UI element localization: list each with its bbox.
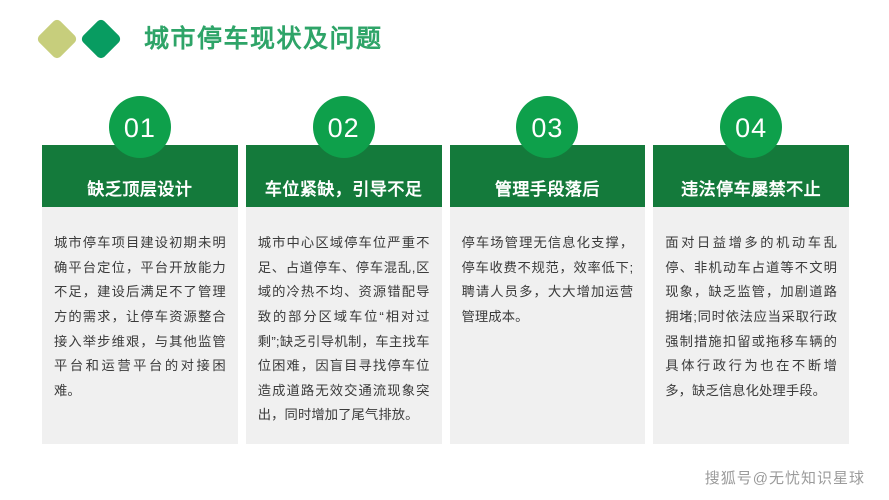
card-body-text: 城市中心区域停车位严重不足、占道停车、停车混乱,区域的冷热不均、资源错配导致的部… bbox=[258, 231, 430, 428]
card-body-panel: 城市停车项目建设初期未明确平台定位，平台开放能力不足，建设后满足不了管理方的需求… bbox=[42, 207, 238, 444]
card-title: 违法停车屡禁不止 bbox=[681, 181, 821, 207]
card-number-label: 04 bbox=[735, 113, 767, 142]
footer-watermark: 搜狐号@无忧知识星球 bbox=[705, 467, 865, 488]
problem-card-03: 03 管理手段落后 停车场管理无信息化支撑，停车收费不规范，效率低下;聘请人员多… bbox=[450, 96, 646, 444]
card-body-panel: 城市中心区域停车位严重不足、占道停车、停车混乱,区域的冷热不均、资源错配导致的部… bbox=[246, 207, 442, 444]
card-number-label: 02 bbox=[328, 113, 360, 142]
problem-card-01: 01 缺乏顶层设计 城市停车项目建设初期未明确平台定位，平台开放能力不足，建设后… bbox=[42, 96, 238, 444]
diamond-teal-icon bbox=[80, 18, 122, 60]
card-title: 车位紧缺，引导不足 bbox=[265, 181, 423, 207]
card-number-badge: 04 bbox=[720, 96, 782, 158]
card-number-badge: 02 bbox=[313, 96, 375, 158]
card-number-label: 01 bbox=[124, 113, 156, 142]
problem-card-02: 02 车位紧缺，引导不足 城市中心区域停车位严重不足、占道停车、停车混乱,区域的… bbox=[246, 96, 442, 444]
card-number-label: 03 bbox=[531, 113, 563, 142]
card-body-panel: 面对日益增多的机动车乱停、非机动车占道等不文明现象，缺乏监管，加剧道路拥堵;同时… bbox=[653, 207, 849, 444]
slide-header: 城市停车现状及问题 bbox=[0, 0, 889, 78]
card-body-panel: 停车场管理无信息化支撑，停车收费不规范，效率低下;聘请人员多，大大增加运营管理成… bbox=[450, 207, 646, 444]
page-title: 城市停车现状及问题 bbox=[144, 27, 383, 52]
card-body-text: 城市停车项目建设初期未明确平台定位，平台开放能力不足，建设后满足不了管理方的需求… bbox=[54, 231, 226, 403]
card-body-text: 面对日益增多的机动车乱停、非机动车占道等不文明现象，缺乏监管，加剧道路拥堵;同时… bbox=[665, 231, 837, 403]
card-body-text: 停车场管理无信息化支撑，停车收费不规范，效率低下;聘请人员多，大大增加运营管理成… bbox=[462, 231, 634, 329]
card-number-badge: 03 bbox=[516, 96, 578, 158]
header-decoration bbox=[42, 24, 116, 54]
problem-cards-row: 01 缺乏顶层设计 城市停车项目建设初期未明确平台定位，平台开放能力不足，建设后… bbox=[42, 96, 849, 444]
problem-card-04: 04 违法停车屡禁不止 面对日益增多的机动车乱停、非机动车占道等不文明现象，缺乏… bbox=[653, 96, 849, 444]
card-number-badge: 01 bbox=[109, 96, 171, 158]
card-title: 缺乏顶层设计 bbox=[87, 181, 192, 207]
card-title: 管理手段落后 bbox=[495, 181, 600, 207]
diamond-olive-icon bbox=[36, 18, 78, 60]
